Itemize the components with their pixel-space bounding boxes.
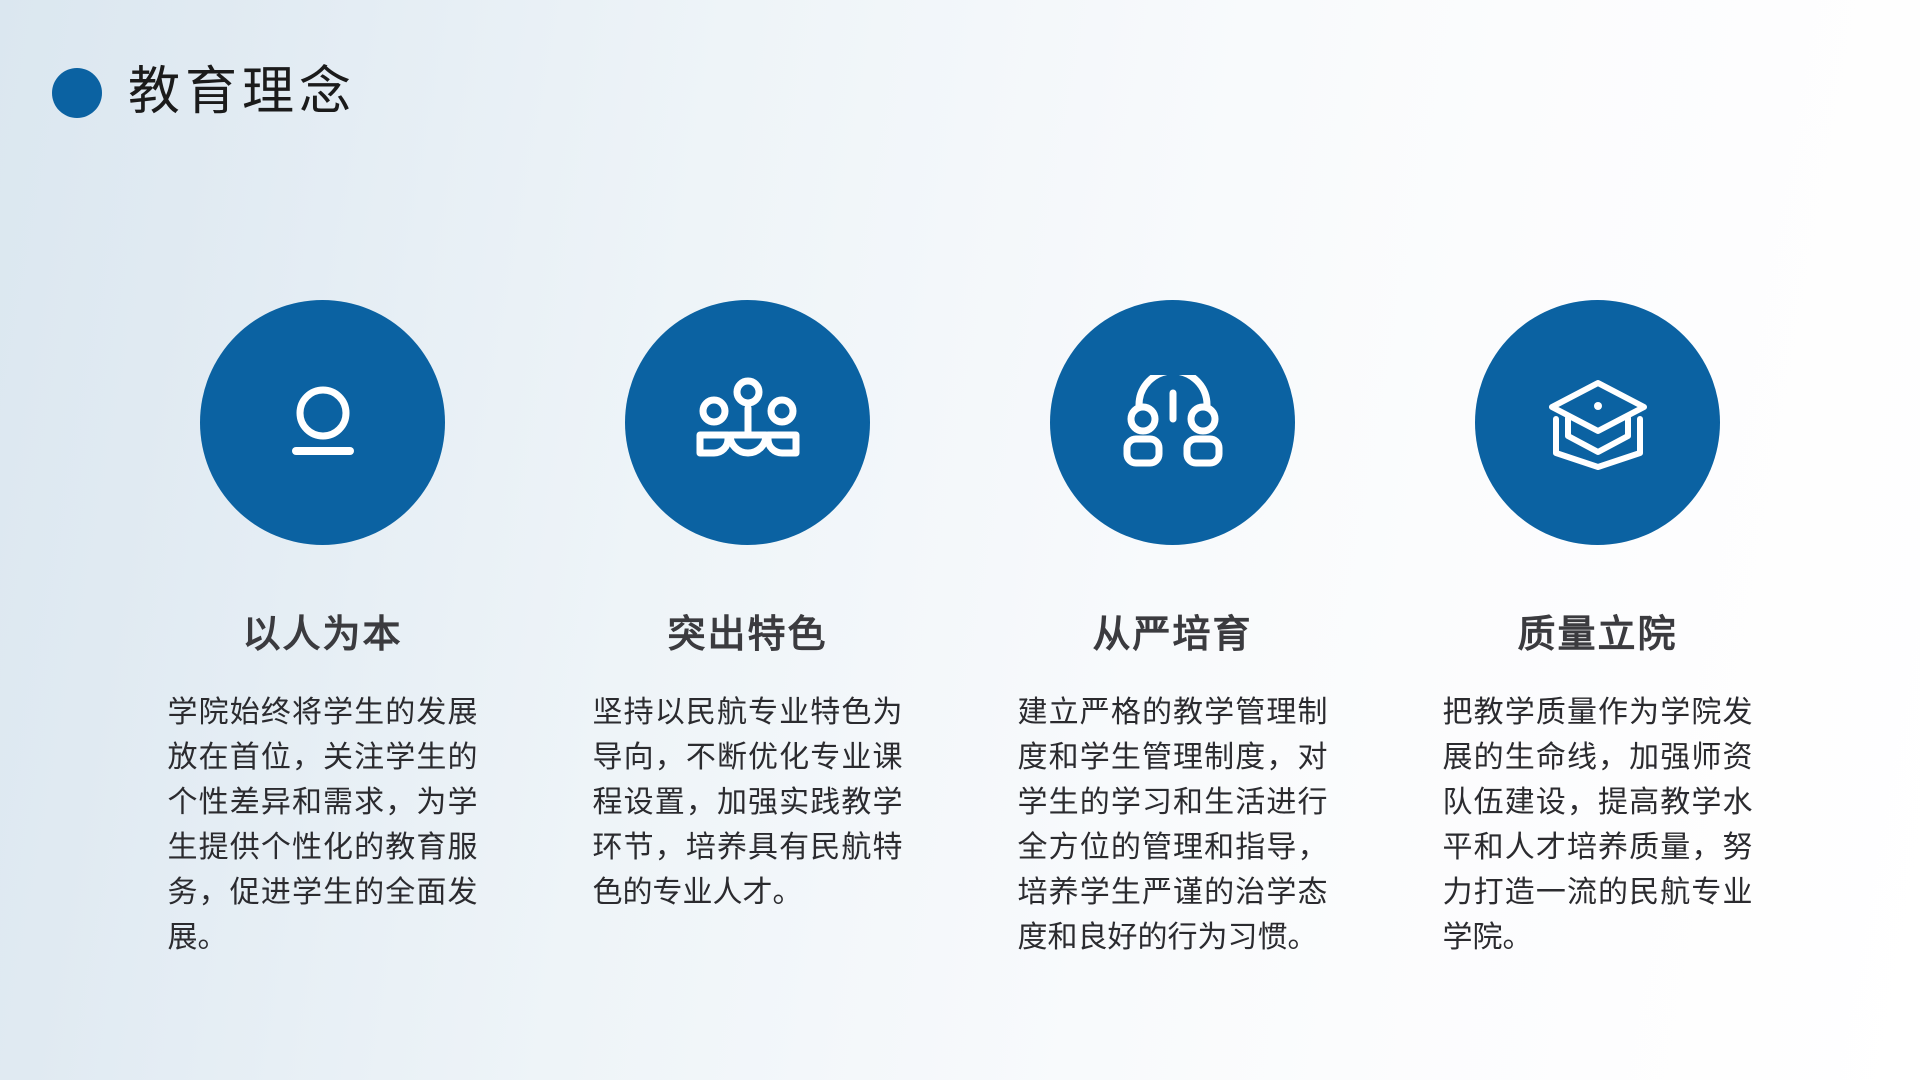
card-title: 突出特色 bbox=[667, 616, 827, 654]
card-title: 从严培育 bbox=[1092, 616, 1252, 654]
card-title: 以人为本 bbox=[242, 616, 402, 654]
concept-card[interactable]: 质量立院 把教学质量作为学院发展的生命线，加强师资队伍建设，提高教学水平和人才培… bbox=[1385, 300, 1810, 960]
card-description: 建立严格的教学管理制度和学生管理制度，对学生的学习和生活进行全方位的管理和指导，… bbox=[1018, 690, 1328, 960]
three-people-group-icon bbox=[625, 300, 870, 545]
slide-heading: 教育理念 bbox=[52, 58, 356, 128]
page-title: 教育理念 bbox=[128, 67, 356, 119]
slide-canvas: 教育理念 以人为本 学院始终将学生的发展放在首位，关注学生的个性差异和需求，为学… bbox=[0, 0, 1920, 1080]
card-description: 把教学质量作为学院发展的生命线，加强师资队伍建设，提高教学水平和人才培养质量，努… bbox=[1443, 690, 1753, 960]
person-head-icon bbox=[200, 300, 445, 545]
concept-card[interactable]: 从严培育 建立严格的教学管理制度和学生管理制度，对学生的学习和生活进行全方位的管… bbox=[960, 300, 1385, 960]
graduation-cap-book-icon bbox=[1475, 300, 1720, 545]
card-description: 坚持以民航专业特色为导向，不断优化专业课程设置，加强实践教学环节，培养具有民航特… bbox=[593, 690, 903, 915]
concept-card[interactable]: 以人为本 学院始终将学生的发展放在首位，关注学生的个性差异和需求，为学生提供个性… bbox=[110, 300, 535, 960]
filled-circle-icon bbox=[52, 68, 102, 118]
concept-card[interactable]: 突出特色 坚持以民航专业特色为导向，不断优化专业课程设置，加强实践教学环节，培养… bbox=[535, 300, 960, 915]
two-people-umbrella-icon bbox=[1050, 300, 1295, 545]
card-title: 质量立院 bbox=[1517, 616, 1677, 654]
concept-card-list: 以人为本 学院始终将学生的发展放在首位，关注学生的个性差异和需求，为学生提供个性… bbox=[110, 300, 1810, 960]
card-description: 学院始终将学生的发展放在首位，关注学生的个性差异和需求，为学生提供个性化的教育服… bbox=[168, 690, 478, 960]
